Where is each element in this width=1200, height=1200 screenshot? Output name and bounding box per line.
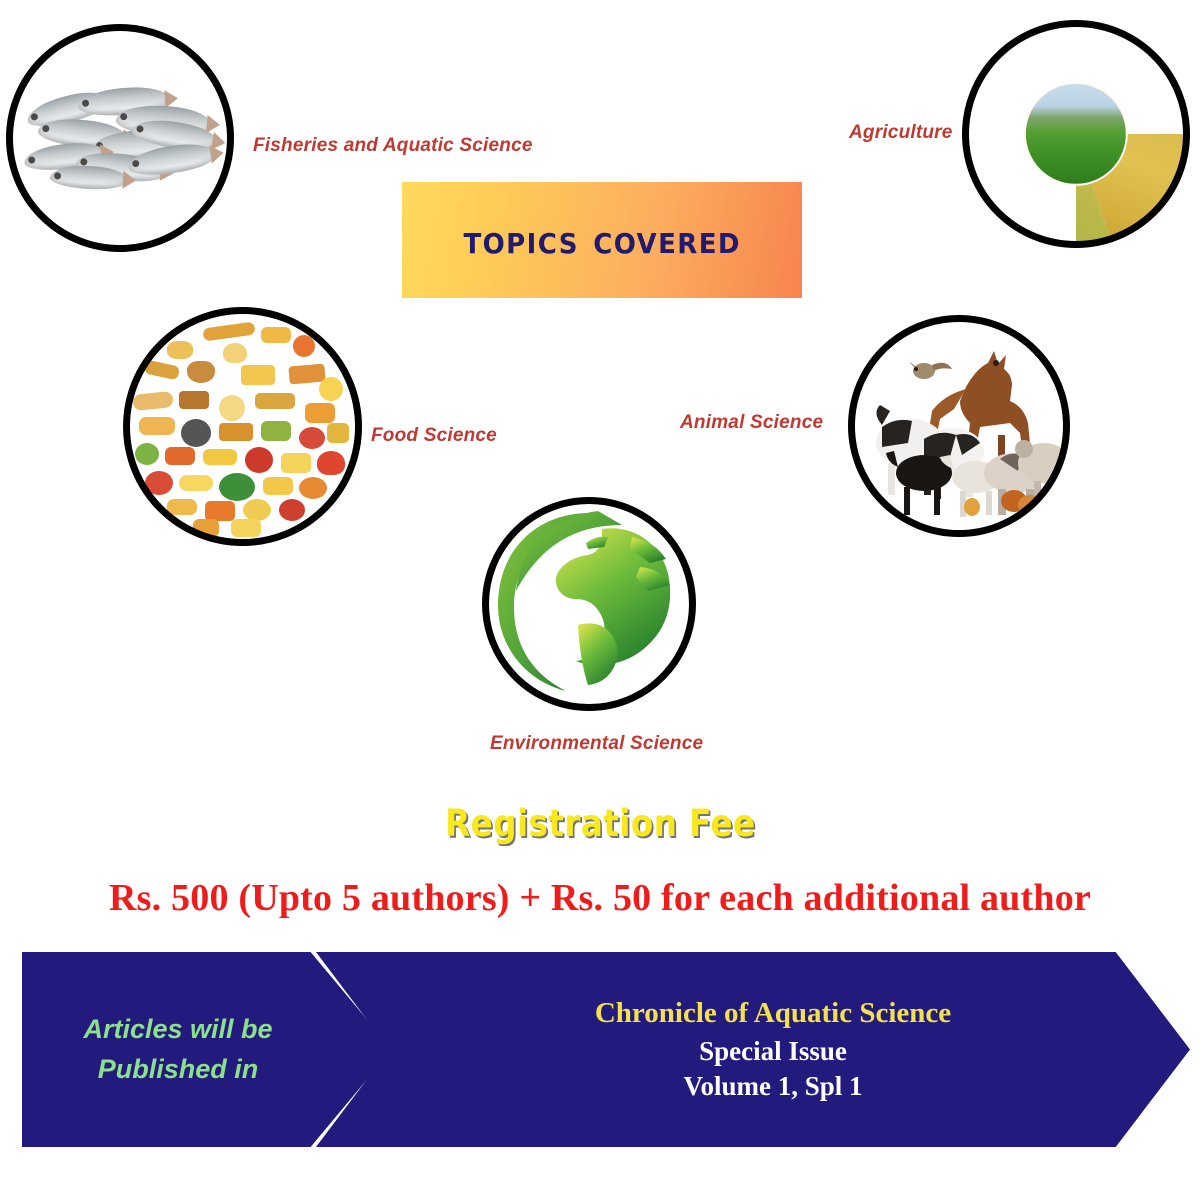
topic-icon-agriculture xyxy=(962,20,1190,248)
published-in-line2: Published in xyxy=(98,1054,259,1084)
paddy-field-center-icon xyxy=(1024,82,1128,186)
topics-covered-section: Topics Covered Fisheries and Aquatic Sci… xyxy=(0,0,1200,783)
fish-photo-icon xyxy=(6,24,234,252)
topic-icon-food xyxy=(123,307,362,546)
topic-icon-fisheries xyxy=(6,24,234,252)
published-in-chevron: Articles will be Published in xyxy=(22,952,392,1147)
topic-label-agriculture: Agriculture xyxy=(849,122,953,144)
registration-fee-heading: Registration Fee xyxy=(445,802,755,845)
journal-chevron: Chronicle of Aquatic Science Special Iss… xyxy=(316,952,1190,1147)
topic-label-fisheries: Fisheries and Aquatic Science xyxy=(253,135,533,157)
topic-icon-environmental xyxy=(482,497,696,711)
topic-label-animal: Animal Science xyxy=(680,412,823,434)
published-in-line1: Articles will be xyxy=(83,1014,272,1044)
topics-covered-banner: Topics Covered xyxy=(402,182,802,298)
page-title: Topics Covered xyxy=(463,217,740,263)
topic-label-environmental: Environmental Science xyxy=(490,733,703,755)
journal-issue-label: Special Issue xyxy=(699,1036,847,1067)
topic-icon-animal xyxy=(848,315,1070,537)
publication-banner: Articles will be Published in Chronicle … xyxy=(0,952,1200,1152)
assorted-food-photo-icon xyxy=(123,307,362,546)
farm-animals-photo-icon xyxy=(848,315,1070,537)
registration-fee-banner: Registration Fee xyxy=(0,783,1200,863)
journal-volume-label: Volume 1, Spl 1 xyxy=(683,1071,862,1102)
published-in-label: Articles will be Published in xyxy=(83,1010,272,1088)
journal-name: Chronicle of Aquatic Science xyxy=(595,997,951,1030)
paddy-field-collage-icon xyxy=(962,20,1190,248)
green-globe-leaf-icon xyxy=(482,497,696,711)
topic-label-food: Food Science xyxy=(371,425,497,447)
registration-fee-amount: Rs. 500 (Upto 5 authors) + Rs. 50 for ea… xyxy=(0,876,1200,920)
